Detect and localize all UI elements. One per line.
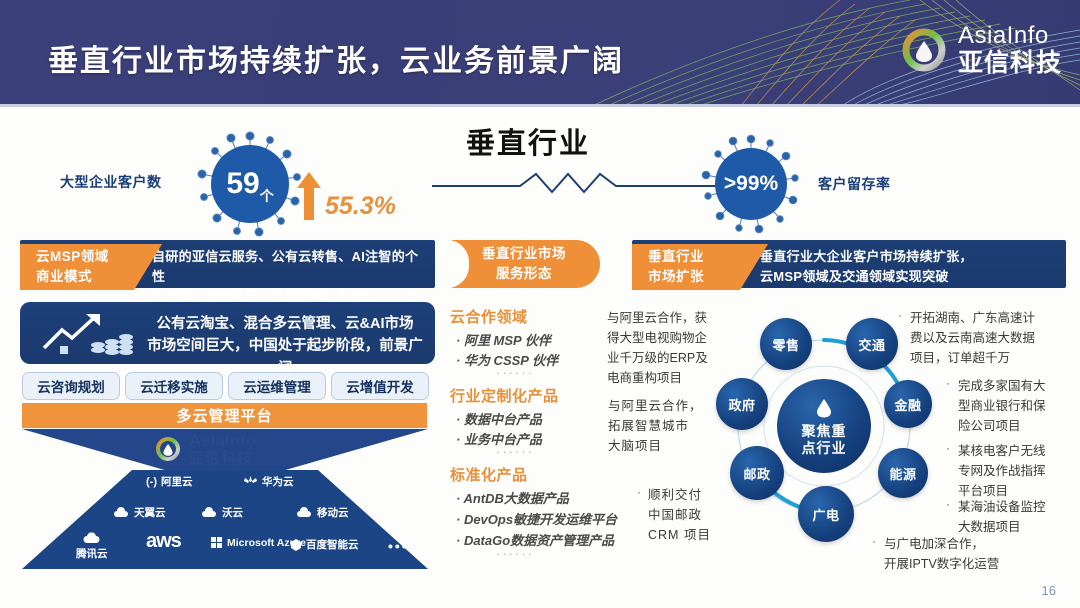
tag-vertical-market-expansion: 垂直行业 市场扩张	[632, 244, 740, 290]
right-note-right-3: 某海油设备监控 大数据项目	[958, 497, 1073, 537]
growth-percentage: 55.3%	[325, 192, 396, 221]
cloud-icon	[82, 531, 102, 545]
right-bar-body: 垂直行业大企业客户市场持续扩张， 云MSP领域及交通领域实现突破	[760, 247, 1060, 287]
band-multicloud-platform: 多云管理平台	[22, 403, 427, 428]
stat-left-label: 大型企业客户数	[60, 172, 162, 192]
partner-logo-baiducloud: 百度智能云	[290, 537, 359, 552]
right-note-right-1: 完成多家国有大 型商业银行和保 险公司项目	[958, 376, 1073, 436]
partner-logo-aws: aws	[146, 530, 181, 553]
header-logo: AsiaInfo 亚信科技	[899, 24, 1062, 76]
stat-left-unit: 个	[260, 186, 274, 206]
left-bar-market-space: 公有云淘宝、混合多云管理、云&AI市场 市场空间巨大，中国处于起步阶段，前景广阔	[20, 302, 435, 364]
chip-cloud-ops[interactable]: 云运维管理	[228, 372, 326, 400]
huawei-petals-icon	[243, 476, 258, 488]
hexagon-icon	[290, 539, 302, 551]
asiainfo-ring-logo-icon	[899, 25, 949, 75]
diagram-node-retail[interactable]: 零售	[760, 318, 812, 370]
cloud-icon	[113, 507, 130, 519]
stat-left-bubble: 59 个	[195, 129, 305, 239]
diagram-node-finance[interactable]: 金融	[884, 380, 932, 428]
mid-section-heading-2: 标准化产品	[450, 464, 528, 485]
mid-item-1-0: · 数据中台产品	[456, 409, 542, 428]
chip-cloud-value-add[interactable]: 云增值开发	[331, 372, 429, 400]
bullet-dot: ·	[608, 308, 612, 322]
header-underline	[0, 104, 1080, 107]
chip-cloud-migration[interactable]: 云迁移实施	[125, 372, 223, 400]
mid-item-2-1: · DevOps敏捷开发运维平台	[456, 509, 617, 528]
slide-header: 垂直行业市场持续扩张，云业务前景广阔 AsiaInfo 亚信科技	[0, 0, 1080, 107]
bullet-dot: ·	[946, 376, 950, 390]
diagram-node-transport[interactable]: 交通	[846, 318, 898, 370]
mid-item-2-2: · DataGo数据资产管理产品	[456, 530, 614, 549]
chip-cloud-consulting[interactable]: 云咨询规划	[22, 372, 120, 400]
right-note-left-1: 与阿里云合作， 拓展智慧城市 大脑项目	[608, 396, 720, 456]
mid-item-2-0: · AntDB大数据产品	[456, 488, 569, 507]
diagram-core: 聚焦重 点行业	[777, 379, 871, 473]
section-title-vertical-industry: 垂直行业	[466, 120, 590, 162]
diagram-node-broadcast[interactable]: 广电	[798, 486, 854, 542]
core-line-1: 聚焦重	[802, 423, 847, 441]
stat-right-bubble: >99%	[700, 133, 802, 235]
partner-logo-tencentcloud: 腾讯云	[76, 531, 108, 561]
pill-vertical-market-service: 垂直行业市场 服务形态	[448, 240, 600, 288]
partner-logo-woyun: 沃云	[201, 505, 243, 520]
cloud-icon	[201, 507, 218, 519]
center-logo-en: AsiaInfo	[189, 432, 256, 449]
focus-industries-diagram: 聚焦重 点行业 零售 交通 金融 能源 广电 邮政 政府	[718, 300, 930, 552]
center-logo-cn: 亚信科技	[189, 451, 256, 466]
decorative-divider	[432, 170, 724, 196]
bullet-dot: ·	[946, 441, 950, 455]
mid-section-heading-1: 行业定制化产品	[450, 385, 559, 406]
page-number: 16	[1042, 583, 1056, 598]
slide-root: 垂直行业市场持续扩张，云业务前景广阔 AsiaInfo 亚信科技	[0, 0, 1080, 608]
microsoft-squares-icon	[211, 537, 223, 549]
mid-ellipsis-0: ······	[496, 365, 534, 380]
asiainfo-drop-icon	[811, 395, 837, 421]
right-note-left-0: 与阿里云合作，获 得大型电视购物企 业千万级的ERP及 电商重构项目	[607, 308, 722, 388]
partner-logo-tianyiyun: 天翼云	[113, 505, 166, 520]
arrow-up-icon	[296, 172, 322, 220]
stat-right-label: 客户留存率	[818, 174, 891, 194]
diagram-node-government[interactable]: 政府	[716, 378, 768, 430]
stat-left-value: 59	[226, 167, 259, 201]
growth-chart-coins-icon	[38, 310, 134, 358]
mid-ellipsis-2: ······	[496, 546, 534, 561]
page-title: 垂直行业市场持续扩张，云业务前景广阔	[48, 36, 624, 80]
stat-right-value: >99%	[700, 133, 802, 235]
cloud-icon	[296, 507, 313, 519]
mid-section-heading-0: 云合作领域	[450, 306, 528, 327]
logo-text-en: AsiaInfo	[958, 24, 1062, 48]
asiainfo-ring-logo-icon	[154, 435, 182, 463]
diagram-node-post[interactable]: 邮政	[730, 446, 784, 500]
center-asiainfo-logo: AsiaInfo 亚信科技	[154, 432, 256, 466]
right-note-left-2: 顺利交付 中国邮政 CRM 项目	[648, 485, 728, 545]
left-bar2-body: 公有云淘宝、混合多云管理、云&AI市场 市场空间巨大，中国处于起步阶段，前景广阔	[145, 313, 425, 380]
tag-cloud-msp-business-model: 云MSP领域 商业模式	[20, 244, 134, 290]
logo-text-cn: 亚信科技	[958, 51, 1062, 76]
mid-ellipsis-1: ······	[496, 444, 534, 459]
bullet-dot: ·	[946, 497, 950, 511]
right-note-right-2: 某核电客户无线 专网及作战指挥 平台项目	[958, 441, 1073, 501]
partner-logo-aliyun: (-)阿里云	[146, 474, 193, 489]
partners-more-dots: •••	[388, 538, 409, 554]
bullet-dot: ·	[637, 485, 641, 499]
right-note-right-0: 开拓湖南、广东高速计 费以及云南高速大数据 项目，订单超千万	[910, 308, 1070, 368]
partner-logo-huaweicloud: 华为云	[243, 474, 294, 489]
partner-logo-yidongyun: 移动云	[296, 505, 349, 520]
mid-item-0-0: · 阿里 MSP 伙伴	[456, 330, 551, 349]
diagram-node-energy[interactable]: 能源	[878, 448, 928, 498]
core-line-2: 点行业	[802, 440, 847, 458]
